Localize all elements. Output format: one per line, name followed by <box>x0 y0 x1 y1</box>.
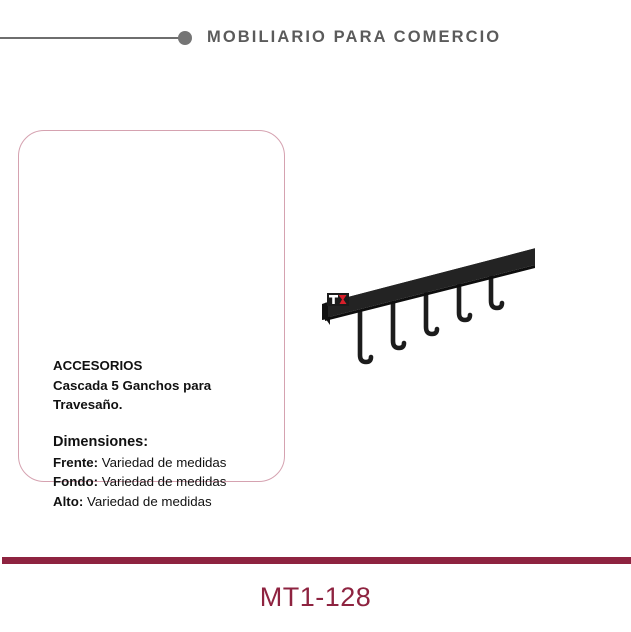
header-bullet-dot-icon <box>178 31 192 45</box>
dimension-label-frente: Frente: <box>53 455 98 470</box>
dimension-label-fondo: Fondo: <box>53 474 98 489</box>
logo-plate <box>327 293 349 306</box>
dimension-label-alto: Alto: <box>53 494 83 509</box>
header-rule-line <box>0 37 180 39</box>
product-info-card: ACCESORIOS Cascada 5 Ganchos para Traves… <box>18 130 285 482</box>
dimension-row-frente: Frente: Variedad de medidas <box>53 453 283 473</box>
dimension-row-fondo: Fondo: Variedad de medidas <box>53 472 283 492</box>
page-header: MOBILIARIO PARA COMERCIO <box>0 0 631 76</box>
dimension-value-alto: Variedad de medidas <box>87 494 212 509</box>
dimension-value-fondo: Variedad de medidas <box>102 474 227 489</box>
product-code: MT1-128 <box>0 581 631 613</box>
product-name-line-1: Cascada 5 Ganchos para <box>53 376 283 396</box>
text-spacer <box>53 415 283 432</box>
hook-3 <box>426 294 437 334</box>
dimensions-heading: Dimensiones: <box>53 432 283 453</box>
hook-1 <box>360 312 371 362</box>
product-info-text: ACCESORIOS Cascada 5 Ganchos para Traves… <box>53 356 283 512</box>
product-name-line-2: Travesaño. <box>53 395 283 415</box>
dimension-value-frente: Variedad de medidas <box>102 455 227 470</box>
product-category: ACCESORIOS <box>53 356 283 376</box>
hook-5 <box>491 277 502 308</box>
page-title: MOBILIARIO PARA COMERCIO <box>207 27 501 47</box>
rail-bar <box>325 241 535 325</box>
product-image-cascade-5-hook-rail <box>295 215 535 375</box>
hook-2 <box>393 303 404 348</box>
hook-4 <box>459 285 470 320</box>
brand-logo <box>327 293 349 306</box>
footer-accent-bar <box>2 557 631 564</box>
dimension-row-alto: Alto: Variedad de medidas <box>53 492 283 512</box>
